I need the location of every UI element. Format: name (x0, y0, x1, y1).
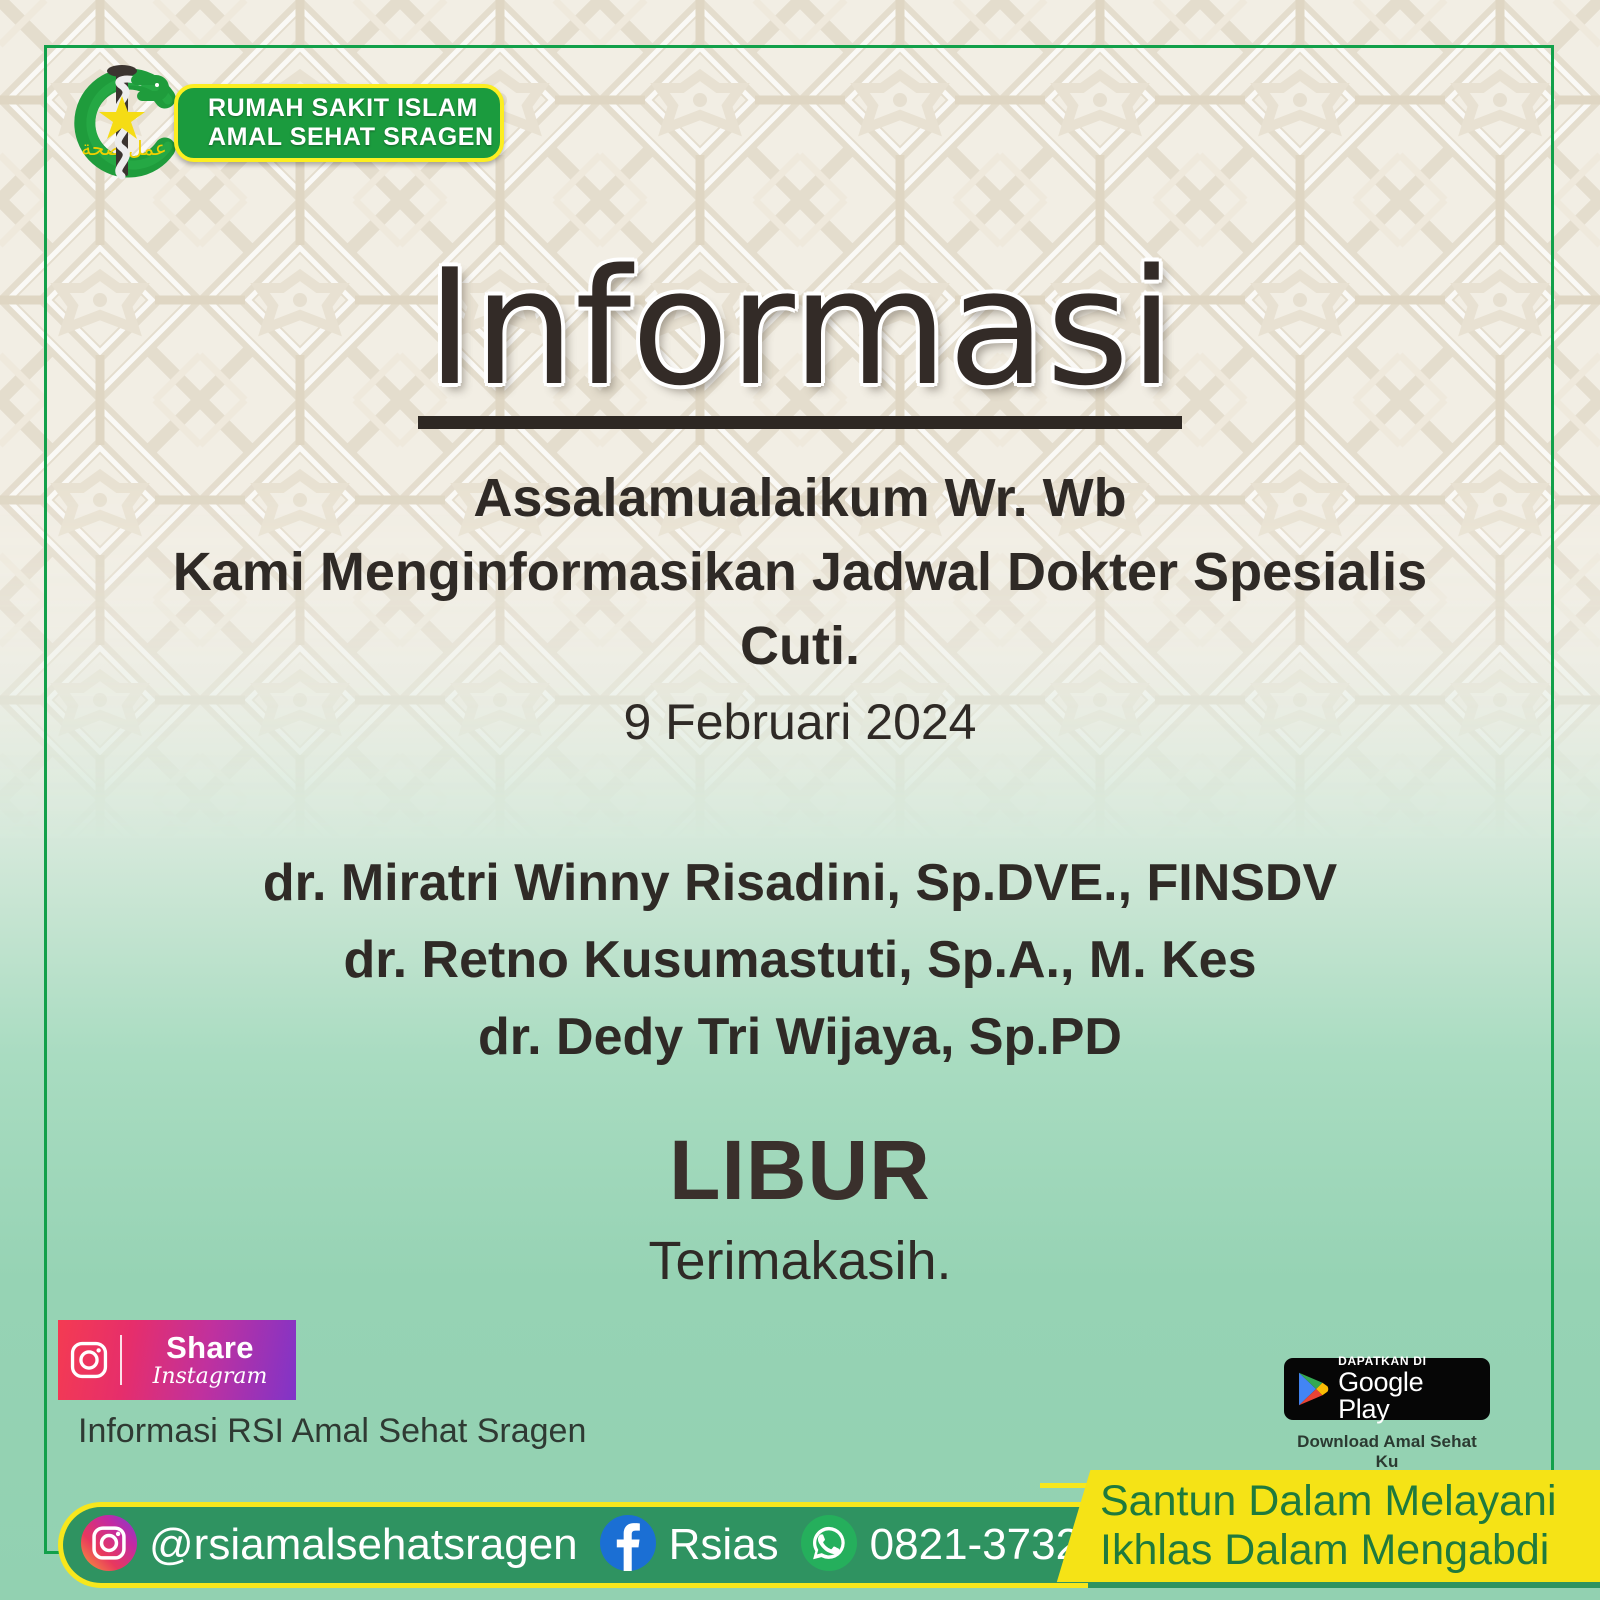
google-play-button[interactable]: DAPATKAN DI Google Play (1284, 1358, 1490, 1420)
list-item: dr. Retno Kusumastuti, Sp.A., M. Kes (0, 922, 1600, 999)
date-line: 9 Februari 2024 (0, 690, 1600, 755)
share-instagram-button[interactable]: Share Instagram (58, 1320, 296, 1400)
tagline-banner: Santun Dalam Melayani Ikhlas Dalam Menga… (1040, 1470, 1600, 1582)
poster-canvas: عمل صحة RUMAH SAKIT ISLAM AMAL SEHAT SRA… (0, 0, 1600, 1600)
rsi-amal-sehat-emblem-icon: عمل صحة (62, 58, 190, 186)
logo-line-1: RUMAH SAKIT ISLAM (208, 94, 500, 124)
google-play-labels: DAPATKAN DI Google Play (1338, 1355, 1478, 1423)
contact-bar: @rsiamalsehatsragen Rsias 0821-3732-8585 (58, 1502, 1088, 1588)
list-item: dr. Miratri Winny Risadini, Sp.DVE., FIN… (0, 845, 1600, 922)
subject-line: Cuti. (0, 610, 1600, 684)
status-badge: LIBUR (0, 1128, 1600, 1212)
instagram-icon (58, 1339, 120, 1381)
doctor-list: dr. Miratri Winny Risadini, Sp.DVE., FIN… (0, 845, 1600, 1076)
status-section: LIBUR Terimakasih. (0, 1128, 1600, 1288)
google-play-big-label: Google Play (1338, 1369, 1478, 1423)
headline-container: Informasi (0, 248, 1600, 429)
page-title: Informasi (418, 248, 1182, 429)
tagline-line-1: Santun Dalam Melayani (1100, 1477, 1600, 1526)
closing-line: Terimakasih. (0, 1234, 1600, 1288)
announcement-body: Assalamualaikum Wr. Wb Kami Menginformas… (0, 462, 1600, 755)
instagram-handle[interactable]: @rsiamalsehatsragen (149, 1520, 578, 1570)
share-label: Share (124, 1332, 296, 1363)
google-play-caption: Download Amal Sehat Ku (1284, 1432, 1490, 1472)
share-caption: Informasi RSI Amal Sehat Sragen (78, 1412, 586, 1451)
hospital-logo: عمل صحة RUMAH SAKIT ISLAM AMAL SEHAT SRA… (62, 58, 502, 186)
whatsapp-icon[interactable] (801, 1515, 857, 1576)
google-play-icon (1296, 1371, 1329, 1407)
share-label-group: Share Instagram (122, 1332, 296, 1388)
announcement-line: Kami Menginformasikan Jadwal Dokter Spes… (0, 536, 1600, 610)
google-play-small-label: DAPATKAN DI (1338, 1355, 1478, 1367)
logo-line-2: AMAL SEHAT SRAGEN (208, 123, 500, 153)
instagram-label: Instagram (124, 1366, 296, 1388)
tagline-line-2: Ikhlas Dalam Mengabdi (1100, 1526, 1600, 1575)
logo-nameplate: RUMAH SAKIT ISLAM AMAL SEHAT SRAGEN (174, 84, 504, 162)
instagram-icon[interactable] (81, 1515, 137, 1576)
greeting-line: Assalamualaikum Wr. Wb (0, 462, 1600, 536)
facebook-name[interactable]: Rsias (669, 1520, 779, 1570)
facebook-icon[interactable] (600, 1515, 656, 1576)
list-item: dr. Dedy Tri Wijaya, Sp.PD (0, 999, 1600, 1076)
